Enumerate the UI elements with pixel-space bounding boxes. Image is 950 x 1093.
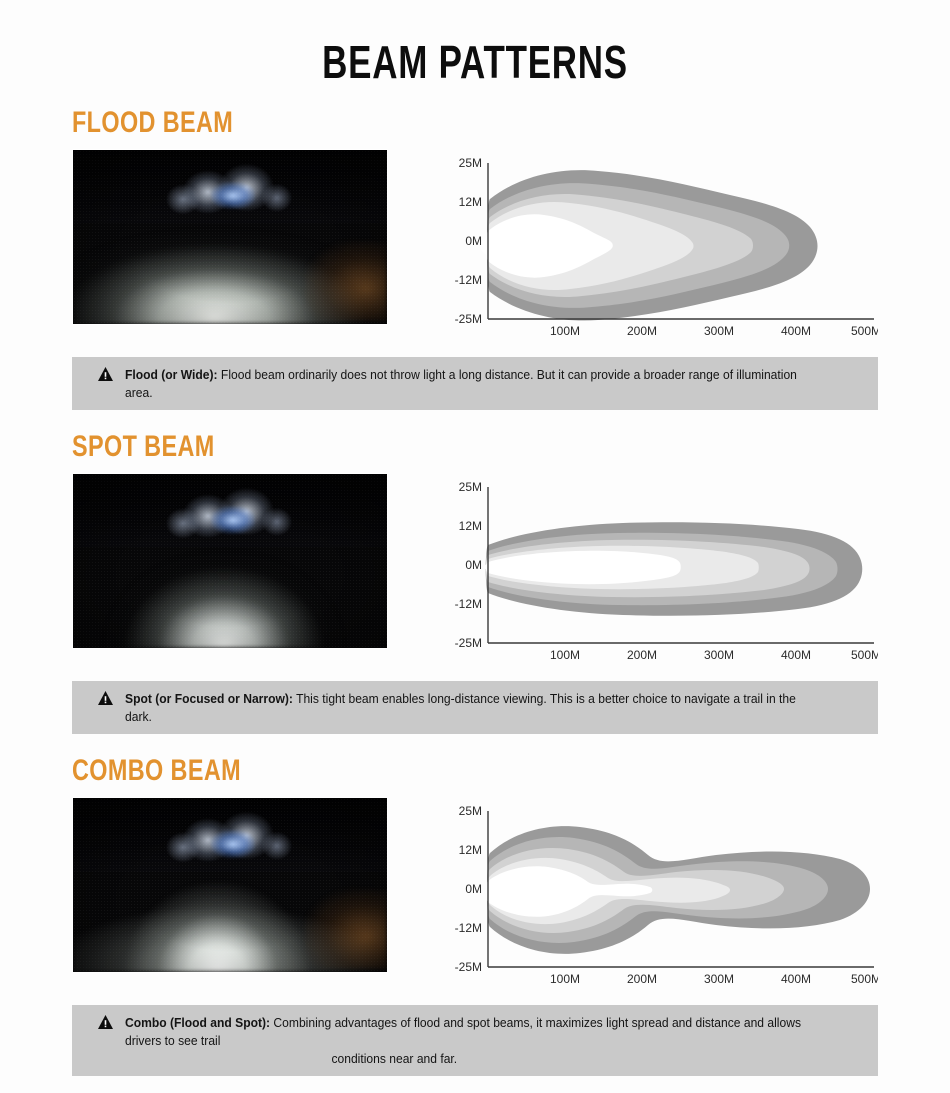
photo-vignette	[73, 150, 387, 324]
note-body-flood: Flood beam ordinarily does not throw lig…	[125, 367, 797, 400]
spot-x-tick-0: 100M	[550, 648, 580, 662]
note-bold-flood: Flood (or Wide):	[125, 367, 218, 382]
beam-core-glow	[486, 880, 566, 902]
flood-y-tick-2: 0M	[465, 234, 482, 248]
section-spot: SPOT BEAM	[0, 430, 950, 734]
section-combo: COMBO BEAM	[0, 754, 950, 1076]
spot-beam-chart: 25M 12M 0M -12M -25M 100M 200M 300M 400M…	[448, 473, 878, 663]
page-title: BEAM PATTERNS	[114, 0, 836, 86]
combo-x-tick-4: 500M	[851, 972, 878, 986]
spot-y-tick-0: 25M	[459, 480, 482, 494]
spot-x-tick-2: 300M	[704, 648, 734, 662]
note-body-combo-line2: conditions near and far.	[331, 1050, 812, 1068]
flood-y-tick-4: -25M	[455, 312, 482, 326]
warning-triangle-icon	[98, 691, 113, 710]
section-heading-spot: SPOT BEAM	[72, 430, 757, 463]
warning-triangle-icon	[98, 1015, 113, 1034]
spot-y-tick-4: -25M	[455, 636, 482, 650]
combo-beam-photo	[72, 797, 388, 973]
flood-beam-photo	[72, 149, 388, 325]
spot-x-tick-1: 200M	[627, 648, 657, 662]
flood-y-tick-1: 12M	[459, 195, 482, 209]
flood-x-tick-1: 200M	[627, 324, 657, 338]
flood-x-tick-3: 400M	[781, 324, 811, 338]
spot-x-tick-3: 400M	[781, 648, 811, 662]
flood-y-tick-0: 25M	[459, 156, 482, 170]
combo-chart-svg: 25M 12M 0M -12M -25M 100M 200M 300M 400M…	[448, 797, 878, 987]
beam-core-glow	[484, 559, 588, 576]
combo-y-tick-4: -25M	[455, 960, 482, 974]
note-text-spot: Spot (or Focused or Narrow): This tight …	[125, 690, 812, 725]
combo-x-tick-2: 300M	[704, 972, 734, 986]
combo-beam-layers	[486, 827, 870, 955]
spot-y-tick-2: 0M	[465, 558, 482, 572]
combo-y-tick-1: 12M	[459, 843, 482, 857]
spot-y-tick-1: 12M	[459, 519, 482, 533]
combo-y-tick-3: -12M	[455, 921, 482, 935]
warning-triangle-icon	[98, 367, 113, 386]
flood-x-tick-0: 100M	[550, 324, 580, 338]
note-text-combo: Combo (Flood and Spot): Combining advant…	[125, 1014, 812, 1067]
note-bold-combo: Combo (Flood and Spot):	[125, 1015, 270, 1030]
section-body-flood: 25M 12M 0M -12M -25M 100M 200M 300M 400M…	[0, 149, 950, 339]
section-flood: FLOOD BEAM	[0, 106, 950, 410]
note-text-flood: Flood (or Wide): Flood beam ordinarily d…	[125, 366, 812, 401]
spot-beam-photo	[72, 473, 388, 649]
section-heading-combo: COMBO BEAM	[72, 754, 757, 787]
photo-vignette	[73, 798, 387, 972]
beam-core-glow	[480, 232, 540, 260]
flood-x-tick-4: 500M	[851, 324, 878, 338]
flood-chart-svg: 25M 12M 0M -12M -25M 100M 200M 300M 400M…	[448, 149, 878, 339]
photo-vignette	[73, 474, 387, 648]
combo-x-tick-0: 100M	[550, 972, 580, 986]
flood-beam-chart: 25M 12M 0M -12M -25M 100M 200M 300M 400M…	[448, 149, 878, 339]
note-bar-spot: Spot (or Focused or Narrow): This tight …	[72, 681, 878, 734]
beam-patterns-page: BEAM PATTERNS FLOOD BEAM	[0, 0, 950, 1093]
note-bar-combo: Combo (Flood and Spot): Combining advant…	[72, 1005, 878, 1076]
section-body-combo: 25M 12M 0M -12M -25M 100M 200M 300M 400M…	[0, 797, 950, 987]
combo-beam-chart: 25M 12M 0M -12M -25M 100M 200M 300M 400M…	[448, 797, 878, 987]
flood-beam-layers	[480, 170, 818, 320]
combo-x-tick-3: 400M	[781, 972, 811, 986]
spot-y-tick-3: -12M	[455, 597, 482, 611]
section-heading-flood: FLOOD BEAM	[72, 106, 757, 139]
note-bar-flood: Flood (or Wide): Flood beam ordinarily d…	[72, 357, 878, 410]
combo-y-tick-2: 0M	[465, 882, 482, 896]
flood-x-tick-2: 300M	[704, 324, 734, 338]
spot-beam-layers	[484, 523, 862, 617]
spot-x-tick-4: 500M	[851, 648, 878, 662]
note-bold-spot: Spot (or Focused or Narrow):	[125, 691, 293, 706]
section-body-spot: 25M 12M 0M -12M -25M 100M 200M 300M 400M…	[0, 473, 950, 663]
spot-chart-svg: 25M 12M 0M -12M -25M 100M 200M 300M 400M…	[448, 473, 878, 663]
flood-y-tick-3: -12M	[455, 273, 482, 287]
combo-y-tick-0: 25M	[459, 804, 482, 818]
combo-x-tick-1: 200M	[627, 972, 657, 986]
